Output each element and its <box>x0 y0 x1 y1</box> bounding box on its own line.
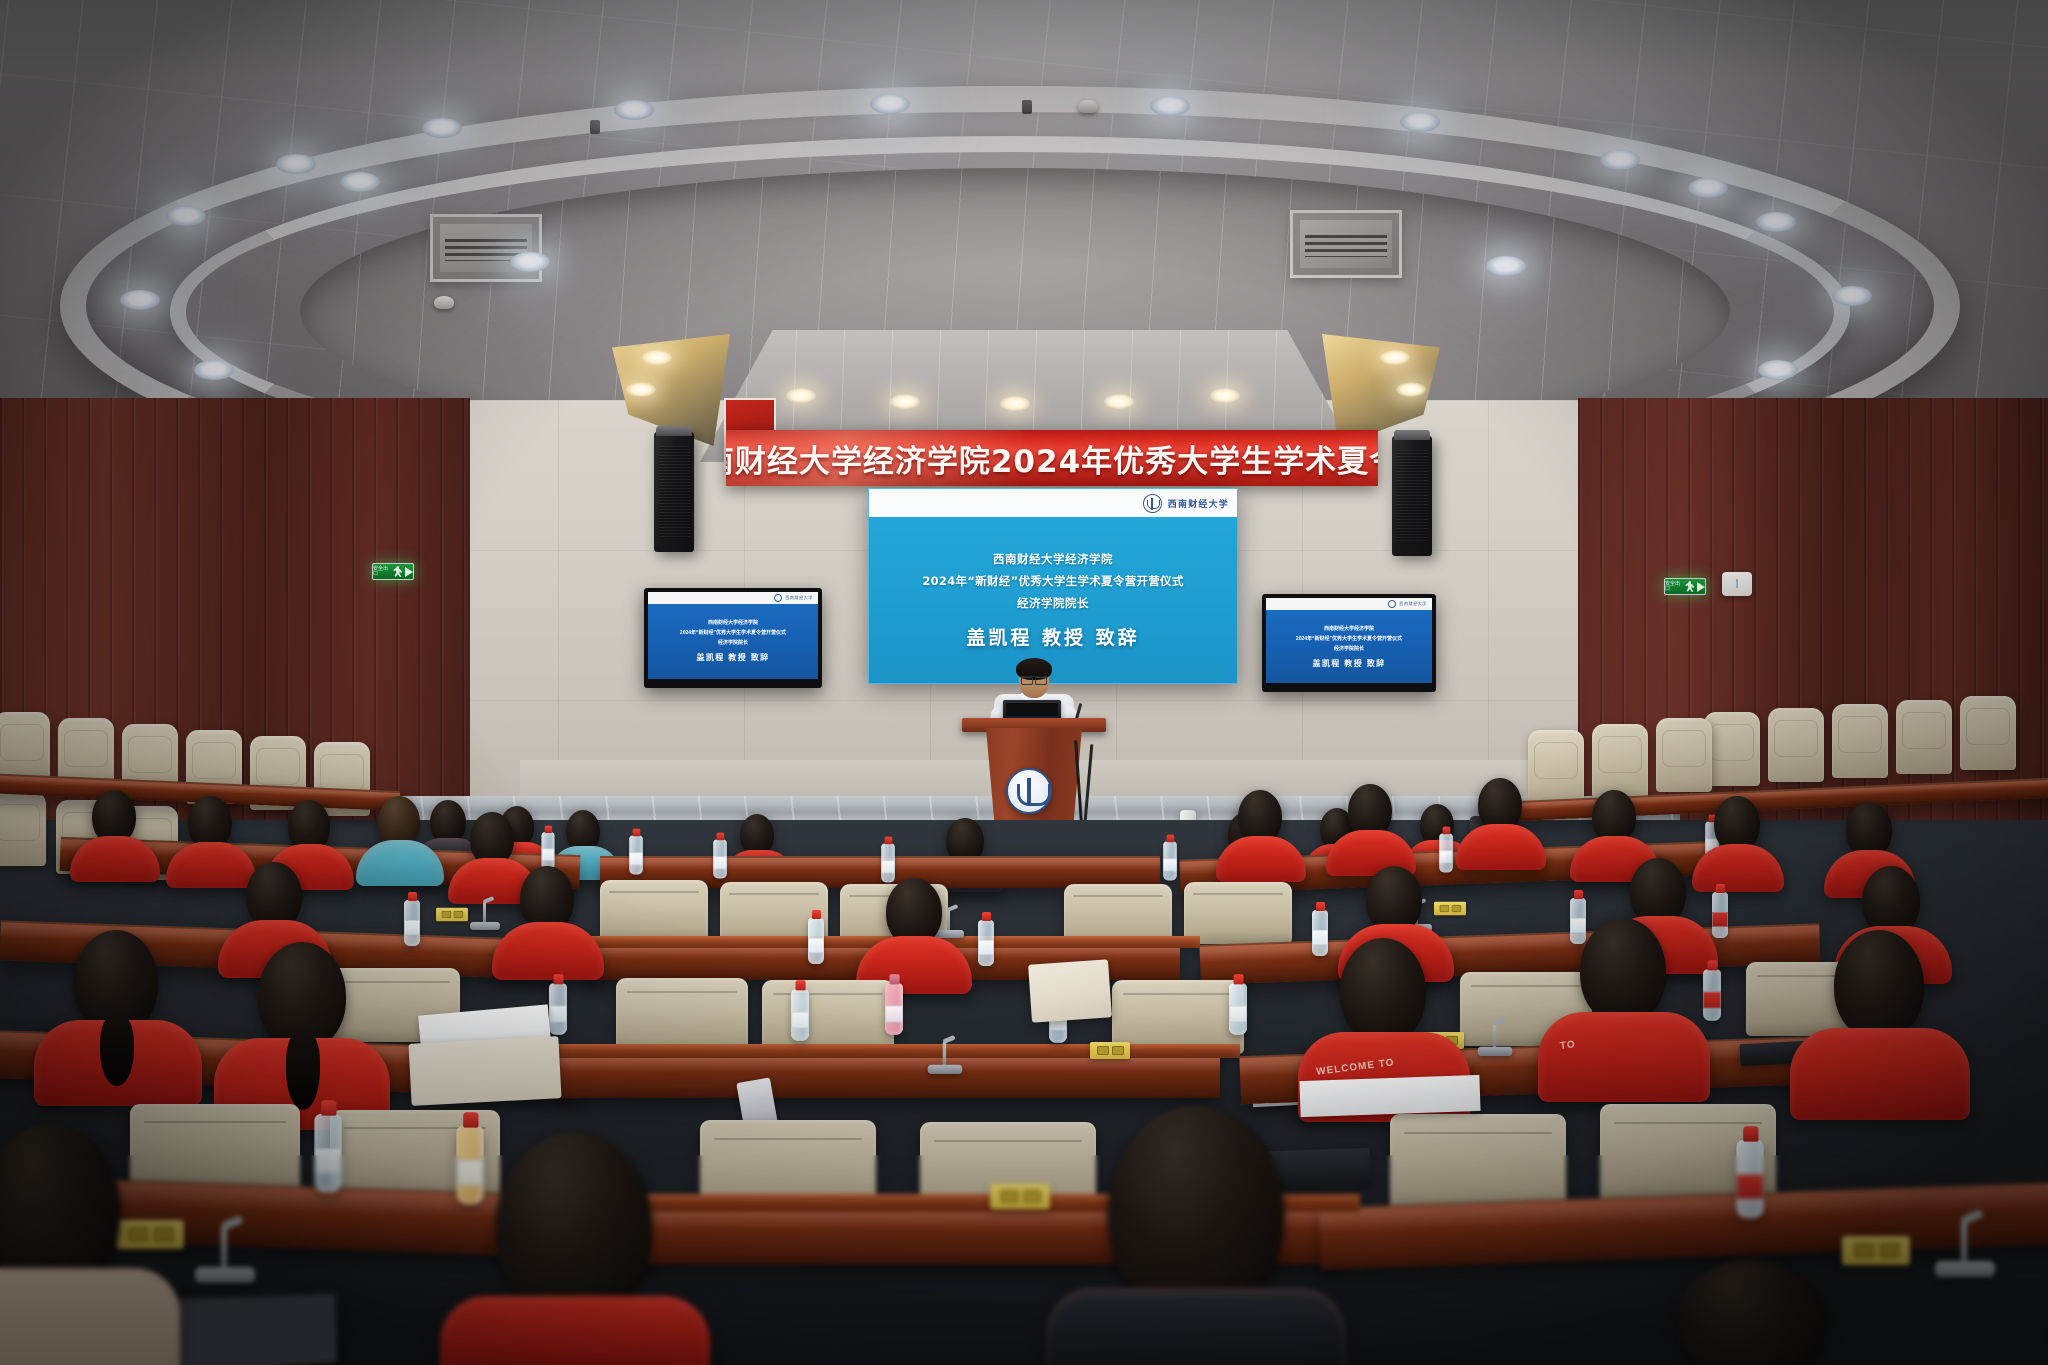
emergency-exit-sign-left: 安全出口 <box>372 563 414 580</box>
water-bottle[interactable] <box>1312 910 1328 956</box>
outlet-socket-icon <box>1022 1190 1040 1204</box>
water-bottle[interactable] <box>978 920 994 966</box>
water-bottle[interactable] <box>1703 969 1721 1021</box>
side-monitor-right-line-1: 西南财经大学经济学院 <box>1324 625 1374 632</box>
desk-power-outlet[interactable] <box>436 908 468 922</box>
exit-sign-label-cn: 安全出口 <box>1665 582 1683 592</box>
empty-seat[interactable] <box>1704 712 1760 786</box>
ceiling-spotlight <box>422 118 462 138</box>
empty-seat[interactable] <box>616 978 748 1052</box>
side-monitor-left-screen: 西南财经大学 西南财经大学经济学院 2024年“新财经”优秀大学生学术夏令营开营… <box>648 592 818 679</box>
audience-head <box>1340 938 1426 1044</box>
swufe-podium-emblem-icon <box>1006 768 1052 814</box>
water-bottle[interactable] <box>713 839 727 878</box>
ceiling-air-conditioner-vent <box>1290 210 1402 278</box>
shirt-slogan: TO <box>1559 1039 1576 1052</box>
outlet-socket-icon <box>441 911 451 918</box>
audience-shoulders <box>0 1268 180 1365</box>
empty-seat[interactable] <box>600 880 708 942</box>
screen-logo-bar: 西南财经大学 <box>869 489 1237 517</box>
side-monitor-left-line-1: 西南财经大学经济学院 <box>708 619 758 626</box>
microphone-base <box>1935 1261 1995 1277</box>
outlet-socket-icon <box>1097 1046 1109 1055</box>
ceiling-spotlight <box>1832 286 1872 306</box>
desk-power-outlet[interactable] <box>1842 1236 1910 1265</box>
swufe-emblem-icon <box>774 594 782 602</box>
water-bottle[interactable] <box>541 832 554 870</box>
wall-speaker-right <box>1392 436 1432 556</box>
ceiling-spotlight <box>1150 96 1190 116</box>
microphone-base <box>928 1065 963 1074</box>
side-monitor-right-content: 西南财经大学经济学院 2024年“新财经”优秀大学生学术夏令营开营仪式 经济学院… <box>1296 625 1402 669</box>
wing-downlight <box>626 382 656 397</box>
microphone-neck <box>1961 1221 1967 1265</box>
water-bottle[interactable] <box>791 989 809 1041</box>
running-man-icon <box>393 566 403 577</box>
ceiling-spotlight <box>340 172 380 192</box>
screen-line-2: 2024年“新财经”优秀大学生学术夏令营开营仪式 <box>922 573 1183 589</box>
soffit-downlight <box>1104 394 1134 409</box>
ceiling-spotlight <box>1600 150 1640 170</box>
side-monitor-right-logo-bar: 西南财经大学 <box>1266 598 1432 610</box>
screen-logo-text: 西南财经大学 <box>1168 497 1229 510</box>
wing-downlight <box>1396 382 1426 397</box>
empty-seat[interactable] <box>1528 730 1584 804</box>
soffit-downlight <box>786 388 816 403</box>
side-monitor-right-line-2: 2024年“新财经”优秀大学生学术夏令营开营仪式 <box>1296 635 1402 642</box>
water-bottle[interactable] <box>881 843 895 882</box>
empty-seat[interactable] <box>1832 704 1888 778</box>
screen-line-3: 经济学院院长 <box>1017 595 1089 611</box>
lecture-hall-photo: 西南财经大学经济学院2024年优秀大学生学术夏令营 西南财经大学 西南财经大学经… <box>0 0 2048 1365</box>
microphone-neck <box>221 1227 227 1271</box>
soffit-downlight <box>1210 388 1240 403</box>
wall-switch-panel[interactable] <box>1722 572 1752 596</box>
ceiling-spotlight <box>510 252 550 272</box>
outlet-socket-icon <box>1439 905 1449 912</box>
swufe-emblem-icon <box>1143 494 1162 513</box>
water-bottle[interactable] <box>808 918 824 964</box>
water-bottle[interactable] <box>1736 1140 1763 1218</box>
ceiling-spotlight <box>166 206 206 226</box>
microphone-base <box>1478 1047 1513 1056</box>
hair-ponytail <box>286 1030 320 1110</box>
outlet-socket-icon <box>1451 905 1461 912</box>
water-bottle[interactable] <box>314 1114 341 1192</box>
ceiling-spotlight <box>276 154 316 174</box>
empty-seat[interactable] <box>0 792 46 866</box>
water-bottle[interactable] <box>1163 841 1177 880</box>
side-monitor-left-line-3: 经济学院院长 <box>718 639 748 646</box>
main-projection-screen: 西南财经大学 西南财经大学经济学院 2024年“新财经”优秀大学生学术夏令营开营… <box>868 488 1238 684</box>
ceiling-spotlight <box>1486 256 1526 276</box>
ceiling-spotlight <box>614 100 654 120</box>
outlet-socket-icon <box>453 911 463 918</box>
side-monitor-left-logo-bar: 西南财经大学 <box>648 592 818 604</box>
emergency-exit-sign-right: 安全出口 <box>1664 578 1706 595</box>
document-paper[interactable] <box>1299 1075 1480 1117</box>
side-monitor-left-logo-text: 西南财经大学 <box>785 595 813 601</box>
wall-speaker-left <box>654 432 694 552</box>
desk-microphone[interactable] <box>1478 1026 1513 1056</box>
screen-line-4-speaker: 盖凯程 教授 致辞 <box>966 623 1139 650</box>
sprinkler-icon <box>590 120 600 134</box>
soffit-downlight <box>890 394 920 409</box>
empty-seat[interactable] <box>762 980 894 1054</box>
banner-title: 西南财经大学经济学院2024年优秀大学生学术夏令营 <box>726 436 1378 481</box>
juice-bottle[interactable] <box>456 1126 483 1204</box>
ceiling-spotlight <box>870 94 910 114</box>
empty-seat[interactable] <box>1112 980 1244 1054</box>
ceiling-spotlight <box>1400 112 1440 132</box>
outlet-socket-icon <box>1112 1046 1124 1055</box>
outlet-socket-icon <box>1000 1190 1018 1204</box>
outlet-socket-icon <box>153 1227 173 1242</box>
outlet-socket-icon <box>1853 1243 1873 1258</box>
side-monitor-left: 西南财经大学 西南财经大学经济学院 2024年“新财经”优秀大学生学术夏令营开营… <box>644 588 822 688</box>
glasses-icon <box>1021 676 1047 682</box>
water-bottle[interactable] <box>549 983 567 1035</box>
side-monitor-left-line-4: 盖凯程 教授 致辞 <box>696 652 769 663</box>
ceiling-spotlight <box>194 360 234 380</box>
empty-seat[interactable] <box>1184 882 1292 944</box>
screen-line-1: 西南财经大学经济学院 <box>993 551 1113 567</box>
event-banner: 西南财经大学经济学院2024年优秀大学生学术夏令营 <box>726 430 1378 486</box>
ceiling-spotlight <box>1758 360 1798 380</box>
microphone-base <box>470 922 500 930</box>
empty-seat[interactable] <box>1768 708 1824 782</box>
smoke-detector-icon <box>1078 100 1098 113</box>
desk-microphone[interactable] <box>470 904 500 930</box>
wing-downlight <box>1380 350 1410 365</box>
desk-microphone[interactable] <box>1935 1225 1995 1277</box>
desk-power-outlet[interactable] <box>990 1184 1050 1210</box>
water-bottle[interactable] <box>1570 898 1586 944</box>
audience-head <box>496 1132 652 1322</box>
outlet-socket-icon <box>1879 1243 1899 1258</box>
desk-microphone[interactable] <box>928 1044 963 1074</box>
side-monitor-right-screen: 西南财经大学 西南财经大学经济学院 2024年“新财经”优秀大学生学术夏令营开营… <box>1266 598 1432 683</box>
smoke-detector-icon <box>434 296 454 309</box>
side-monitor-right-logo-text: 西南财经大学 <box>1399 601 1427 607</box>
ceiling-spotlight <box>1688 178 1728 198</box>
desk-surface-c <box>540 1044 1240 1058</box>
audience-shoulders-red-shirt <box>440 1296 710 1365</box>
sprinkler-icon <box>1022 100 1032 114</box>
side-monitor-right: 西南财经大学 西南财经大学经济学院 2024年“新财经”优秀大学生学术夏令营开营… <box>1262 594 1436 692</box>
outlet-socket-icon <box>127 1227 147 1242</box>
audience-shoulders <box>1046 1288 1346 1365</box>
wing-downlight <box>642 350 672 365</box>
audience-head <box>1108 1106 1284 1318</box>
tote-bag[interactable] <box>1028 959 1112 1022</box>
microphone-neck <box>947 910 950 932</box>
water-bottle[interactable] <box>404 900 420 946</box>
soffit-downlight <box>1000 396 1030 411</box>
thermos-bottle-pink[interactable] <box>885 983 903 1035</box>
empty-seat[interactable] <box>1896 700 1952 774</box>
ceiling-spotlight <box>1756 212 1796 232</box>
hair-ponytail <box>100 1014 134 1086</box>
microphone-neck <box>1493 1024 1496 1049</box>
water-bottle[interactable] <box>1229 983 1247 1035</box>
empty-seat[interactable] <box>1960 696 2016 770</box>
desk-power-outlet[interactable] <box>1090 1042 1130 1059</box>
exit-sign-label-cn: 安全出口 <box>373 567 391 577</box>
audience-shoulders-red-shirt <box>1538 1012 1710 1102</box>
side-monitor-left-content: 西南财经大学经济学院 2024年“新财经”优秀大学生学术夏令营开营仪式 经济学院… <box>680 619 786 663</box>
water-bottle[interactable] <box>1712 892 1728 938</box>
swufe-emblem-icon <box>1388 600 1396 608</box>
screen-content: 西南财经大学经济学院 2024年“新财经”优秀大学生学术夏令营开营仪式 经济学院… <box>869 517 1237 684</box>
empty-seat[interactable] <box>1656 718 1712 792</box>
microphone-base <box>195 1267 255 1283</box>
water-bottle[interactable] <box>629 835 643 874</box>
audience-shoulders-red-shirt <box>1790 1028 1970 1120</box>
empty-seat[interactable] <box>1592 724 1648 798</box>
desk-microphone[interactable] <box>195 1231 255 1283</box>
microphone-neck <box>483 902 486 924</box>
desk-power-outlet[interactable] <box>1434 902 1466 916</box>
running-man-icon <box>1685 581 1695 592</box>
audience-head <box>1580 918 1666 1024</box>
ceiling-spotlight <box>120 290 160 310</box>
water-bottle[interactable] <box>1439 833 1453 872</box>
tote-bag[interactable] <box>408 1036 561 1106</box>
arrow-right-icon <box>405 567 413 577</box>
empty-seat[interactable] <box>1390 1114 1566 1212</box>
side-monitor-right-line-4: 盖凯程 教授 致辞 <box>1312 658 1385 669</box>
audience-head <box>1834 930 1924 1040</box>
side-monitor-left-line-2: 2024年“新财经”优秀大学生学术夏令营开营仪式 <box>680 629 786 636</box>
arrow-right-icon <box>1697 582 1705 592</box>
microphone-neck <box>943 1042 946 1067</box>
side-monitor-right-line-3: 经济学院院长 <box>1334 645 1364 652</box>
desk-power-outlet[interactable] <box>116 1220 184 1249</box>
